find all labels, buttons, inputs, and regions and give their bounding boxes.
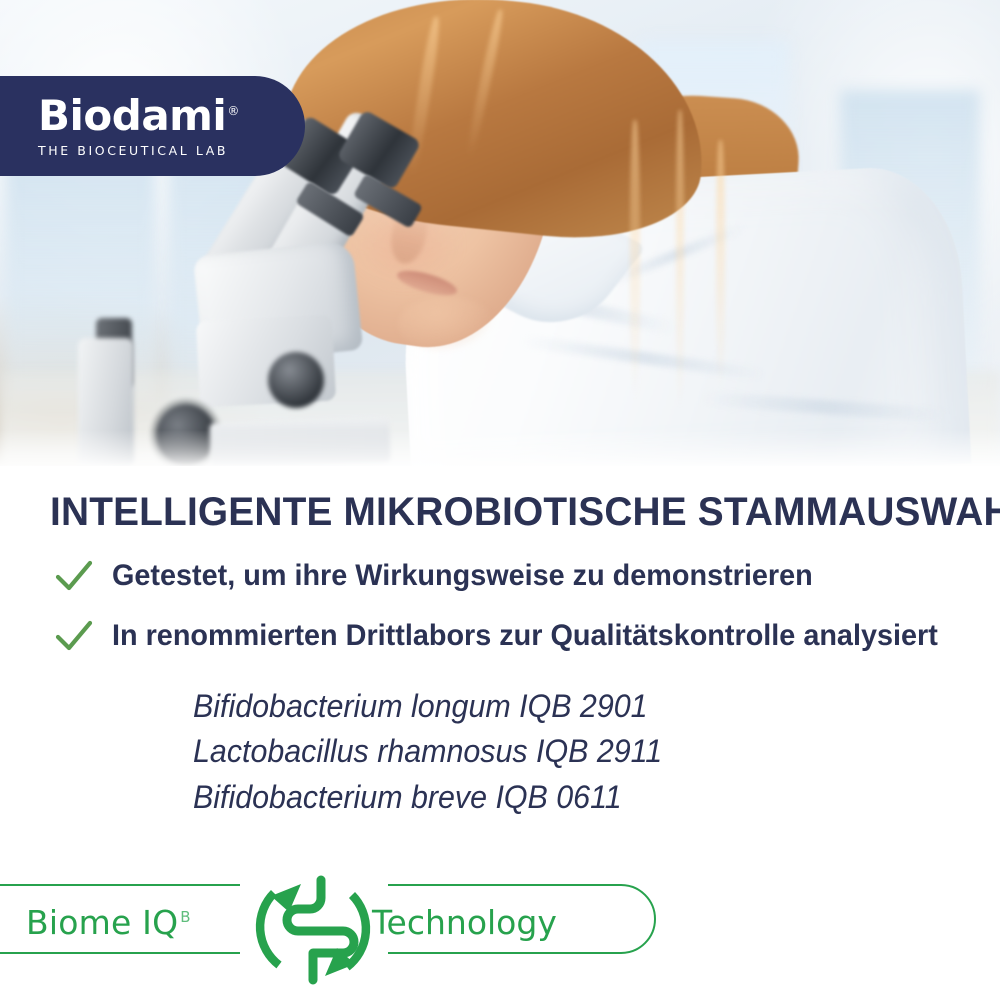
technology-label: Technology: [372, 906, 557, 939]
benefits-list: Getestet, um ihre Wirkungsweise zu demon…: [52, 554, 992, 674]
hero-photo: [0, 0, 1000, 466]
strain-item: Bifidobacterium breve IQB 0611: [193, 775, 662, 820]
list-item: In renommierten Drittlabors zur Qualität…: [52, 614, 992, 658]
strain-item: Bifidobacterium longum IQB 2901: [193, 684, 662, 729]
hair-strand: [716, 140, 725, 390]
gut-cycle-icon: [243, 860, 383, 1000]
check-icon: [52, 554, 96, 598]
list-item-label: In renommierten Drittlabors zur Qualität…: [112, 621, 938, 651]
chin: [398, 296, 494, 352]
biome-iq-label: Biome IQB: [26, 906, 191, 939]
list-item: Getestet, um ihre Wirkungsweise zu demon…: [52, 554, 992, 598]
microscope-focus-knob: [268, 352, 324, 408]
brand-logo-tagline: THE BIOCEUTICAL LAB: [38, 145, 305, 158]
content-section: INTELLIGENTE MIKROBIOTISCHE STAMMAUSWAHL…: [0, 466, 1000, 1000]
strain-item: Lactobacillus rhamnosus IQB 2911: [193, 729, 662, 774]
page-title: INTELLIGENTE MIKROBIOTISCHE STAMMAUSWAHL: [50, 492, 923, 532]
strain-list: Bifidobacterium longum IQB 2901 Lactobac…: [193, 684, 687, 820]
hair-strand: [630, 120, 640, 400]
brand-logo-badge[interactable]: Biodami® THE BIOCEUTICAL LAB: [0, 76, 305, 176]
brand-logo-name: Biodami: [38, 91, 226, 140]
registered-mark-icon: ®: [227, 104, 239, 118]
poster-canvas: Biodami® THE BIOCEUTICAL LAB INTELLIGENT…: [0, 0, 1000, 1000]
list-item-label: Getestet, um ihre Wirkungsweise zu demon…: [112, 561, 813, 591]
hair-strand: [676, 110, 684, 410]
biome-iq-text: Biome IQ: [26, 903, 178, 942]
hero-bottom-fade: [0, 430, 1000, 466]
biome-iq-superscript: B: [180, 908, 191, 926]
brand-logo-wordmark: Biodami®: [38, 95, 305, 137]
scientist-figure: [0, 0, 1000, 466]
check-icon: [52, 614, 96, 658]
